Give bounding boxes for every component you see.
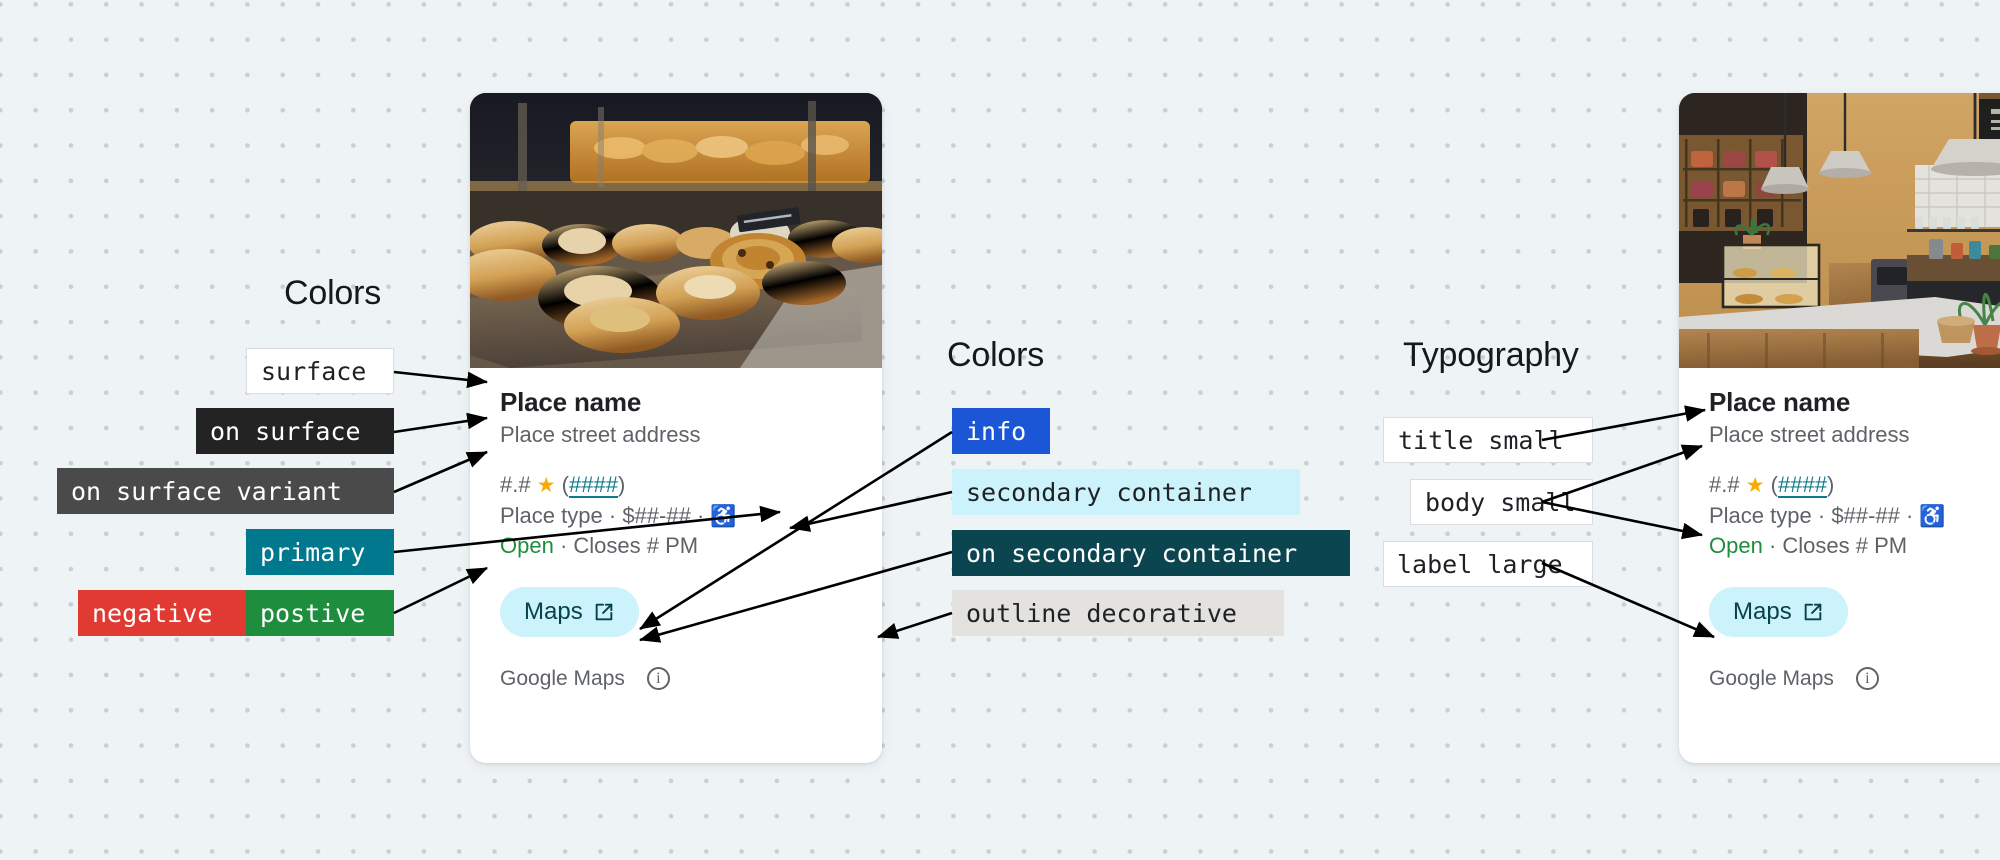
- section-title-colors-left: Colors: [284, 274, 381, 313]
- separator-dot: ·: [1906, 503, 1913, 528]
- footer-attribution: Google Maps: [500, 667, 625, 691]
- color-chip-label: info: [966, 419, 1026, 444]
- color-chip-label: surface: [261, 359, 366, 384]
- place-type-label: Place type: [500, 503, 603, 528]
- place-photo-cafe: [1679, 93, 2000, 368]
- section-title-typography: Typography: [1403, 336, 1579, 375]
- place-card-body-right: Place name Place street address #.# ★ (#…: [1679, 368, 2000, 717]
- open-in-new-icon: [593, 601, 615, 623]
- place-name: Place name: [1709, 388, 2000, 418]
- wheelchair-accessible-icon: ♿: [1919, 505, 1945, 528]
- review-close-paren: ): [618, 472, 625, 497]
- color-chip-label: primary: [260, 540, 365, 565]
- color-chip-on-secondary-container[interactable]: on secondary container: [952, 530, 1350, 576]
- rating-value: #.#: [1709, 472, 1740, 497]
- price-range: $##-##: [1831, 503, 1900, 528]
- arrow-outline-decorative: [878, 613, 952, 637]
- review-open-paren: (: [1771, 472, 1778, 497]
- place-address: Place street address: [1709, 421, 2000, 450]
- color-chip-secondary-container[interactable]: secondary container: [952, 469, 1300, 515]
- separator-dot: ·: [560, 533, 567, 558]
- color-chip-positive[interactable]: postive: [246, 590, 394, 636]
- place-rating-row: #.# ★ (####): [500, 470, 852, 500]
- color-chip-label: on surface: [210, 419, 361, 444]
- color-chip-info[interactable]: info: [952, 408, 1050, 454]
- color-chip-label: postive: [260, 601, 365, 626]
- color-chip-label: outline decorative: [966, 601, 1237, 626]
- open-in-new-icon: [1802, 601, 1824, 623]
- place-card-footer: Google Maps i: [500, 667, 852, 717]
- place-type-label: Place type: [1709, 503, 1812, 528]
- place-hours-row: Open · Closes # PM: [1709, 531, 2000, 561]
- typography-chip-title-small[interactable]: title small: [1383, 417, 1593, 463]
- place-photo-bakery: [470, 93, 882, 368]
- open-status: Open: [1709, 533, 1763, 558]
- typography-chip-label: body small: [1425, 490, 1576, 515]
- typography-chip-label: label large: [1397, 552, 1563, 577]
- color-chip-label: on secondary container: [966, 541, 1297, 566]
- typography-chip-label: title small: [1398, 428, 1564, 453]
- review-count-link[interactable]: ####: [1778, 472, 1827, 497]
- place-hours-row: Open · Closes # PM: [500, 531, 852, 561]
- separator-dot: ·: [1818, 503, 1825, 528]
- review-count-link[interactable]: ####: [569, 472, 618, 497]
- maps-button-label: Maps: [524, 598, 583, 626]
- review-open-paren: (: [562, 472, 569, 497]
- maps-button[interactable]: Maps: [500, 587, 639, 637]
- wheelchair-accessible-icon: ♿: [710, 505, 736, 528]
- review-close-paren: ): [1827, 472, 1834, 497]
- color-chip-label: on surface variant: [71, 479, 342, 504]
- color-chip-label: negative: [92, 601, 212, 626]
- separator-dot: ·: [1769, 533, 1776, 558]
- design-annotation-canvas: Colors Colors Typography surface on surf…: [0, 0, 2000, 860]
- separator-dot: ·: [697, 503, 704, 528]
- closing-time: Closes # PM: [573, 533, 698, 558]
- star-icon: ★: [537, 474, 556, 497]
- place-card-right: Place name Place street address #.# ★ (#…: [1679, 93, 2000, 763]
- open-status: Open: [500, 533, 554, 558]
- price-range: $##-##: [622, 503, 691, 528]
- maps-button-label: Maps: [1733, 598, 1792, 626]
- color-chip-on-surface[interactable]: on surface: [196, 408, 394, 454]
- star-icon: ★: [1746, 474, 1765, 497]
- typography-chip-label-large-text[interactable]: label large: [1383, 541, 1593, 587]
- place-card-left: Place name Place street address #.# ★ (#…: [470, 93, 882, 763]
- place-card-body-left: Place name Place street address #.# ★ (#…: [470, 368, 882, 717]
- color-chip-outline-decorative[interactable]: outline decorative: [952, 590, 1284, 636]
- place-type-row: Place type · $##-## · ♿: [1709, 501, 2000, 531]
- color-chip-negative[interactable]: negative: [78, 590, 246, 636]
- color-chip-on-surface-variant[interactable]: on surface variant: [57, 468, 394, 514]
- typography-chip-body-small[interactable]: body small: [1410, 479, 1593, 525]
- color-chip-label: secondary container: [966, 480, 1252, 505]
- info-icon[interactable]: i: [647, 667, 670, 690]
- separator-dot: ·: [609, 503, 616, 528]
- bakery-photo-illustration: [470, 93, 882, 368]
- place-card-footer: Google Maps i: [1709, 667, 2000, 717]
- place-name: Place name: [500, 388, 852, 418]
- closing-time: Closes # PM: [1782, 533, 1907, 558]
- section-title-colors-mid: Colors: [947, 336, 1044, 375]
- maps-button[interactable]: Maps: [1709, 587, 1848, 637]
- cafe-interior-illustration: [1679, 93, 2000, 368]
- place-rating-row: #.# ★ (####): [1709, 470, 2000, 500]
- rating-value: #.#: [500, 472, 531, 497]
- info-icon[interactable]: i: [1856, 667, 1879, 690]
- color-chip-primary[interactable]: primary: [246, 529, 394, 575]
- color-chip-surface[interactable]: surface: [246, 348, 394, 394]
- footer-attribution: Google Maps: [1709, 667, 1834, 691]
- place-address: Place street address: [500, 421, 852, 450]
- place-type-row: Place type · $##-## · ♿: [500, 501, 852, 531]
